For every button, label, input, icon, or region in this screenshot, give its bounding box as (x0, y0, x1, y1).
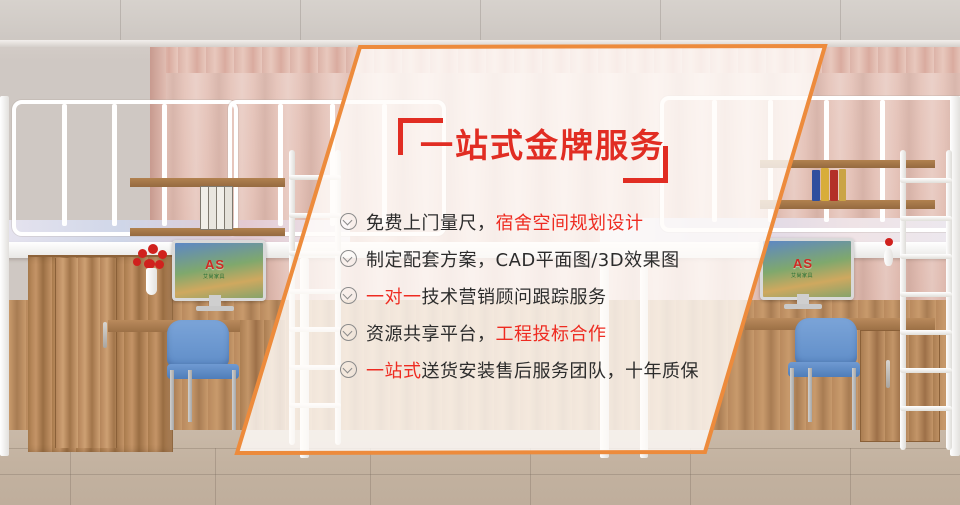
circle-chevron-down-icon (340, 213, 357, 230)
list-item: 一对一技术营销顾问跟踪服务 (340, 277, 760, 314)
list-item: 免费上门量尺，宿舍空间规划设计 (340, 203, 760, 240)
circle-chevron-down-icon (340, 287, 357, 304)
list-item-label: 免费上门量尺，宿舍空间规划设计 (366, 209, 644, 235)
promo-banner: AS 艾尚家具 AS 艾尚家具 (0, 0, 960, 505)
page-title: 一站式金牌服务 (420, 126, 665, 166)
circle-chevron-down-icon (340, 324, 357, 341)
circle-chevron-down-icon (340, 361, 357, 378)
list-item: 一站式送货安装售后服务团队，十年质保 (340, 351, 760, 388)
list-item-label: 制定配套方案，CAD平面图/3D效果图 (366, 246, 680, 272)
service-feature-list: 免费上门量尺，宿舍空间规划设计 制定配套方案，CAD平面图/3D效果图 一对一技… (340, 203, 760, 388)
list-item-label: 一站式送货安装售后服务团队，十年质保 (366, 357, 699, 383)
circle-chevron-down-icon (340, 250, 357, 267)
list-item: 资源共享平台，工程投标合作 (340, 314, 760, 351)
list-item-label: 资源共享平台，工程投标合作 (366, 320, 607, 346)
list-item-label: 一对一技术营销顾问跟踪服务 (366, 283, 607, 309)
panel-content: 一站式金牌服务 免费上门量尺，宿舍空间规划设计 制定配套方案，CAD平面图/3D… (0, 0, 960, 505)
title-block: 一站式金牌服务 (398, 118, 663, 180)
list-item: 制定配套方案，CAD平面图/3D效果图 (340, 240, 760, 277)
